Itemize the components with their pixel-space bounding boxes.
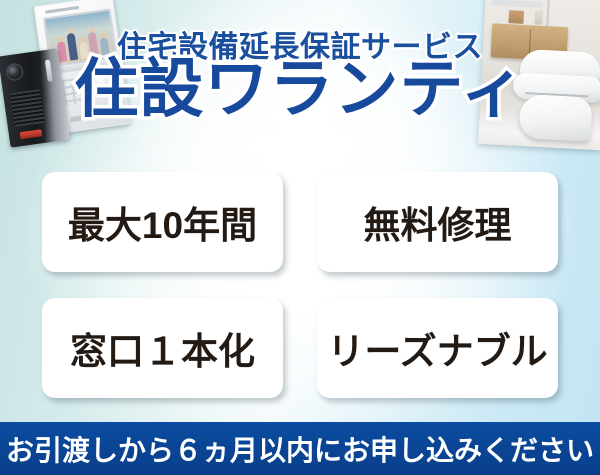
feature-label: 窓口１本化 (70, 321, 255, 375)
feature-label: 最大10年間 (68, 195, 257, 249)
headline-block: 住宅設備延長保証サービス 住設ワランティ (0, 0, 600, 150)
bottom-notice-bar: お引渡しから６ヵ月以内にお申し込みください (0, 422, 600, 475)
feature-box-free-repair: 無料修理 (317, 172, 558, 272)
feature-box-single-contact: 窓口１本化 (42, 298, 283, 398)
feature-label: リーズナブル (327, 321, 547, 375)
banner-title: 住設ワランティ (0, 56, 600, 123)
feature-label: 無料修理 (364, 195, 512, 249)
promo-banner: 住宅設備延長保証サービス 住設ワランティ 最大10年間 無料修理 窓口１本化 リ… (0, 0, 600, 475)
feature-box-grid: 最大10年間 無料修理 窓口１本化 リーズナブル (42, 172, 558, 400)
feature-box-reasonable: リーズナブル (317, 298, 558, 398)
feature-box-max-10-years: 最大10年間 (42, 172, 283, 272)
bottom-notice-text: お引渡しから６ヵ月以内にお申し込みください (6, 429, 594, 469)
